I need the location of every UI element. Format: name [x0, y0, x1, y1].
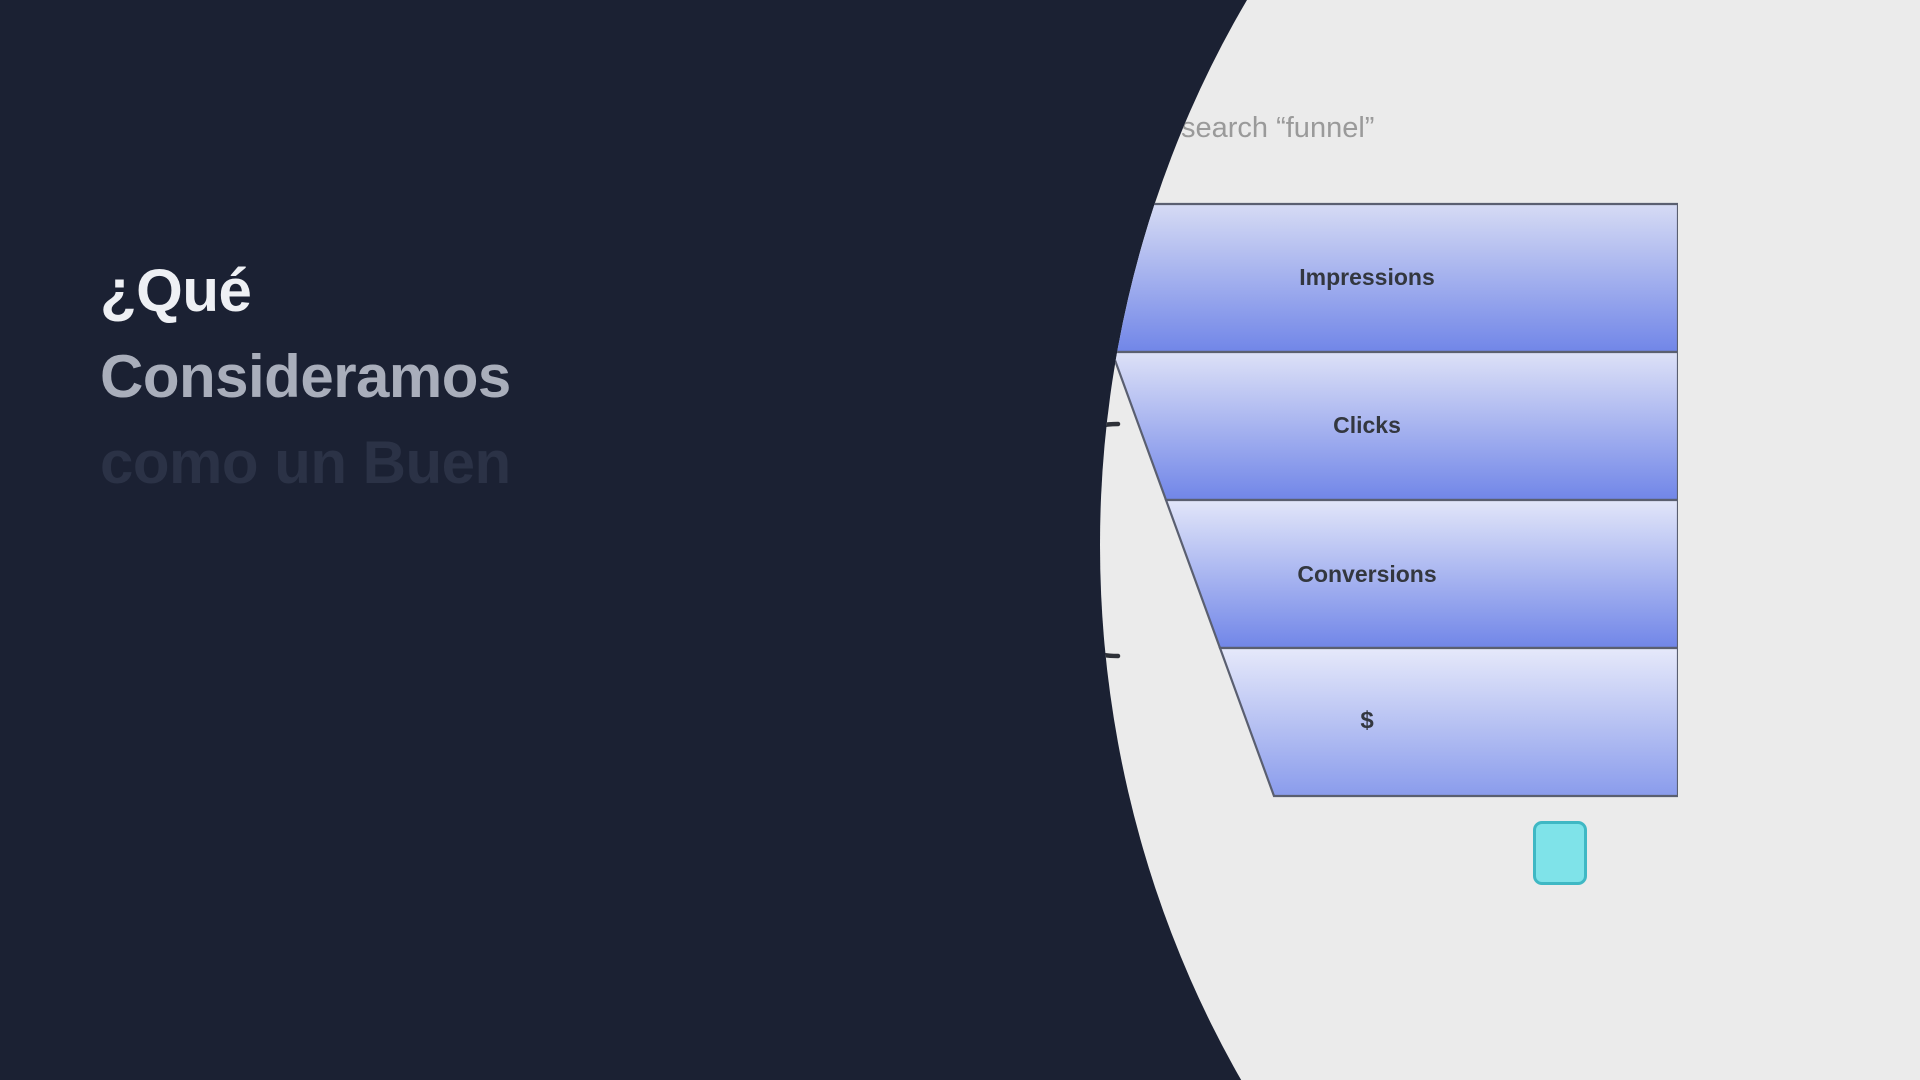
slide-canvas: ¿Qué Consideramos como un Buen Rate (CVR… — [0, 0, 1920, 1080]
funnel-label-revenue: $ — [1100, 707, 1676, 735]
headline-line-2: Consideramos — [100, 334, 860, 420]
slide-content: Rate (CVR) impact near the end of the se… — [1100, 0, 1920, 1080]
corner-accent-chip[interactable] — [1533, 821, 1587, 885]
funnel-label-clicks: Clicks — [1100, 412, 1676, 439]
headline-line-1: ¿Qué — [100, 248, 860, 334]
headline-block: ¿Qué Consideramos como un Buen — [100, 248, 860, 506]
brace-annotation — [1100, 420, 1130, 660]
headline-line-3: como un Buen — [100, 420, 860, 506]
slide-ellipse-panel: Rate (CVR) impact near the end of the se… — [1100, 0, 1920, 1080]
funnel-diagram: Impressions Clicks Conversions $ — [1100, 202, 1678, 802]
slide-subtitle: impact near the end of the search “funne… — [1100, 112, 1374, 145]
curly-brace-icon — [1100, 420, 1130, 660]
funnel-label-conversions: Conversions — [1100, 561, 1676, 588]
funnel-label-impressions: Impressions — [1100, 264, 1676, 291]
